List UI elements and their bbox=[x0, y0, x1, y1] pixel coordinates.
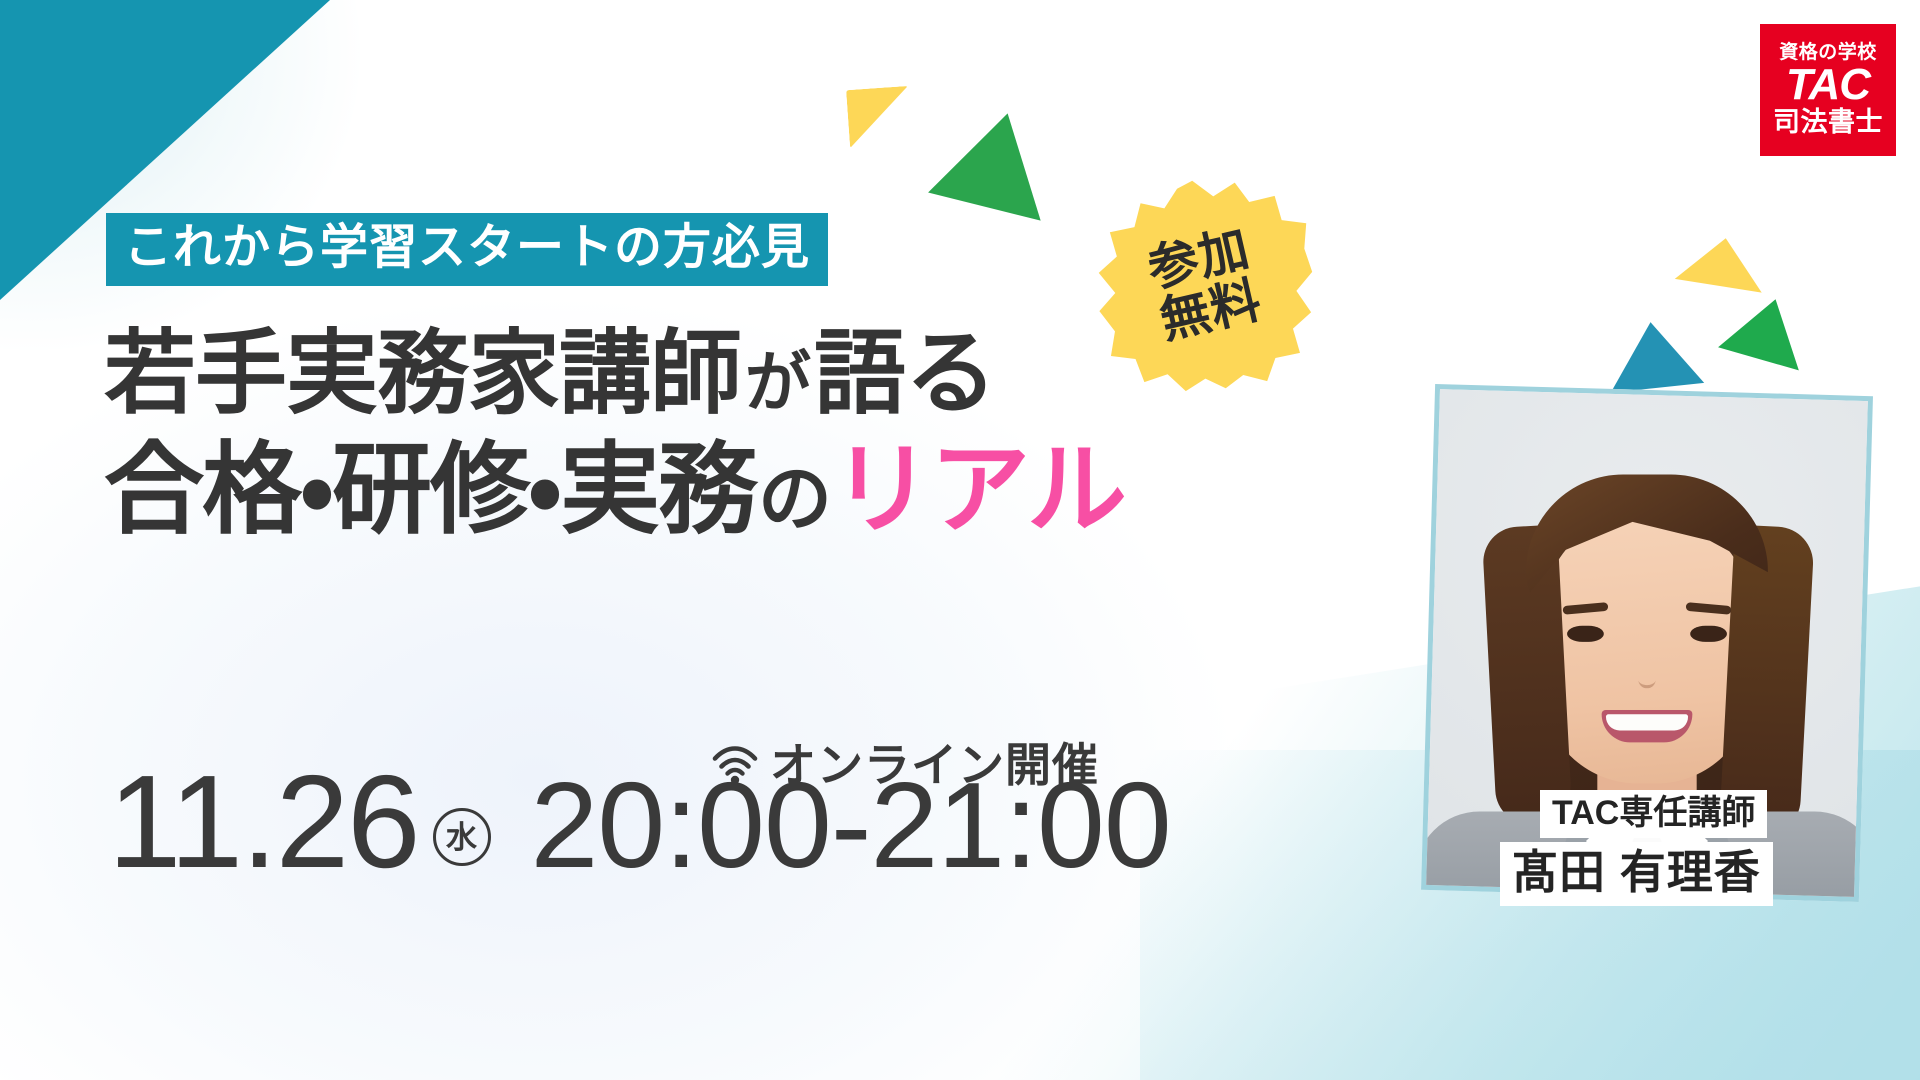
portrait-teeth bbox=[1606, 714, 1688, 730]
tagline-label: これから学習スタートの方必見 bbox=[106, 213, 828, 286]
event-date: 11.26 bbox=[108, 760, 419, 884]
triangle-yellow-top-icon bbox=[846, 86, 912, 148]
logo-wordmark: TAC bbox=[1786, 63, 1870, 107]
headline-line2-main: 合格・研修・実務 bbox=[104, 434, 756, 546]
portrait-face bbox=[1542, 511, 1752, 783]
event-day-of-week: 水 bbox=[433, 808, 491, 866]
event-datetime: 11.26 水 20:00-21:00 bbox=[108, 760, 1171, 884]
portrait-nose bbox=[1638, 665, 1655, 689]
triangle-teal-right-icon bbox=[1604, 317, 1704, 392]
headline-line-2: 合格・研修・実務のリアル bbox=[104, 433, 1125, 547]
portrait-mouth bbox=[1602, 710, 1693, 742]
portrait-eye-right bbox=[1690, 626, 1727, 642]
headline-line-1: 若手実務家講師が語る bbox=[104, 322, 1125, 427]
headline-line1-particle: が bbox=[741, 345, 814, 419]
headline-line2-particle: の bbox=[756, 457, 832, 540]
logo-course-text: 司法書士 bbox=[1773, 108, 1883, 136]
event-time: 20:00-21:00 bbox=[531, 767, 1171, 884]
starburst-shape bbox=[1083, 165, 1327, 404]
headline-highlight: リアル bbox=[832, 434, 1125, 546]
headline-line1-main: 若手実務家講師 bbox=[104, 323, 741, 425]
headline: 若手実務家講師が語る 合格・研修・実務のリアル bbox=[104, 322, 1125, 547]
headline-line1-tail: 語る bbox=[814, 323, 996, 425]
promo-banner: 資格の学校 TAC 司法書士 これから学習スタートの方必見 若手実務家講師が語る… bbox=[0, 0, 1920, 1080]
portrait-eye-left bbox=[1567, 626, 1604, 642]
instructor-name-plate: 髙田 有理香 bbox=[1500, 842, 1773, 906]
free-participation-badge: 参加 無料 bbox=[1083, 165, 1327, 404]
tac-logo: 資格の学校 TAC 司法書士 bbox=[1760, 24, 1896, 156]
instructor-role-plate: TAC専任講師 bbox=[1540, 790, 1767, 838]
